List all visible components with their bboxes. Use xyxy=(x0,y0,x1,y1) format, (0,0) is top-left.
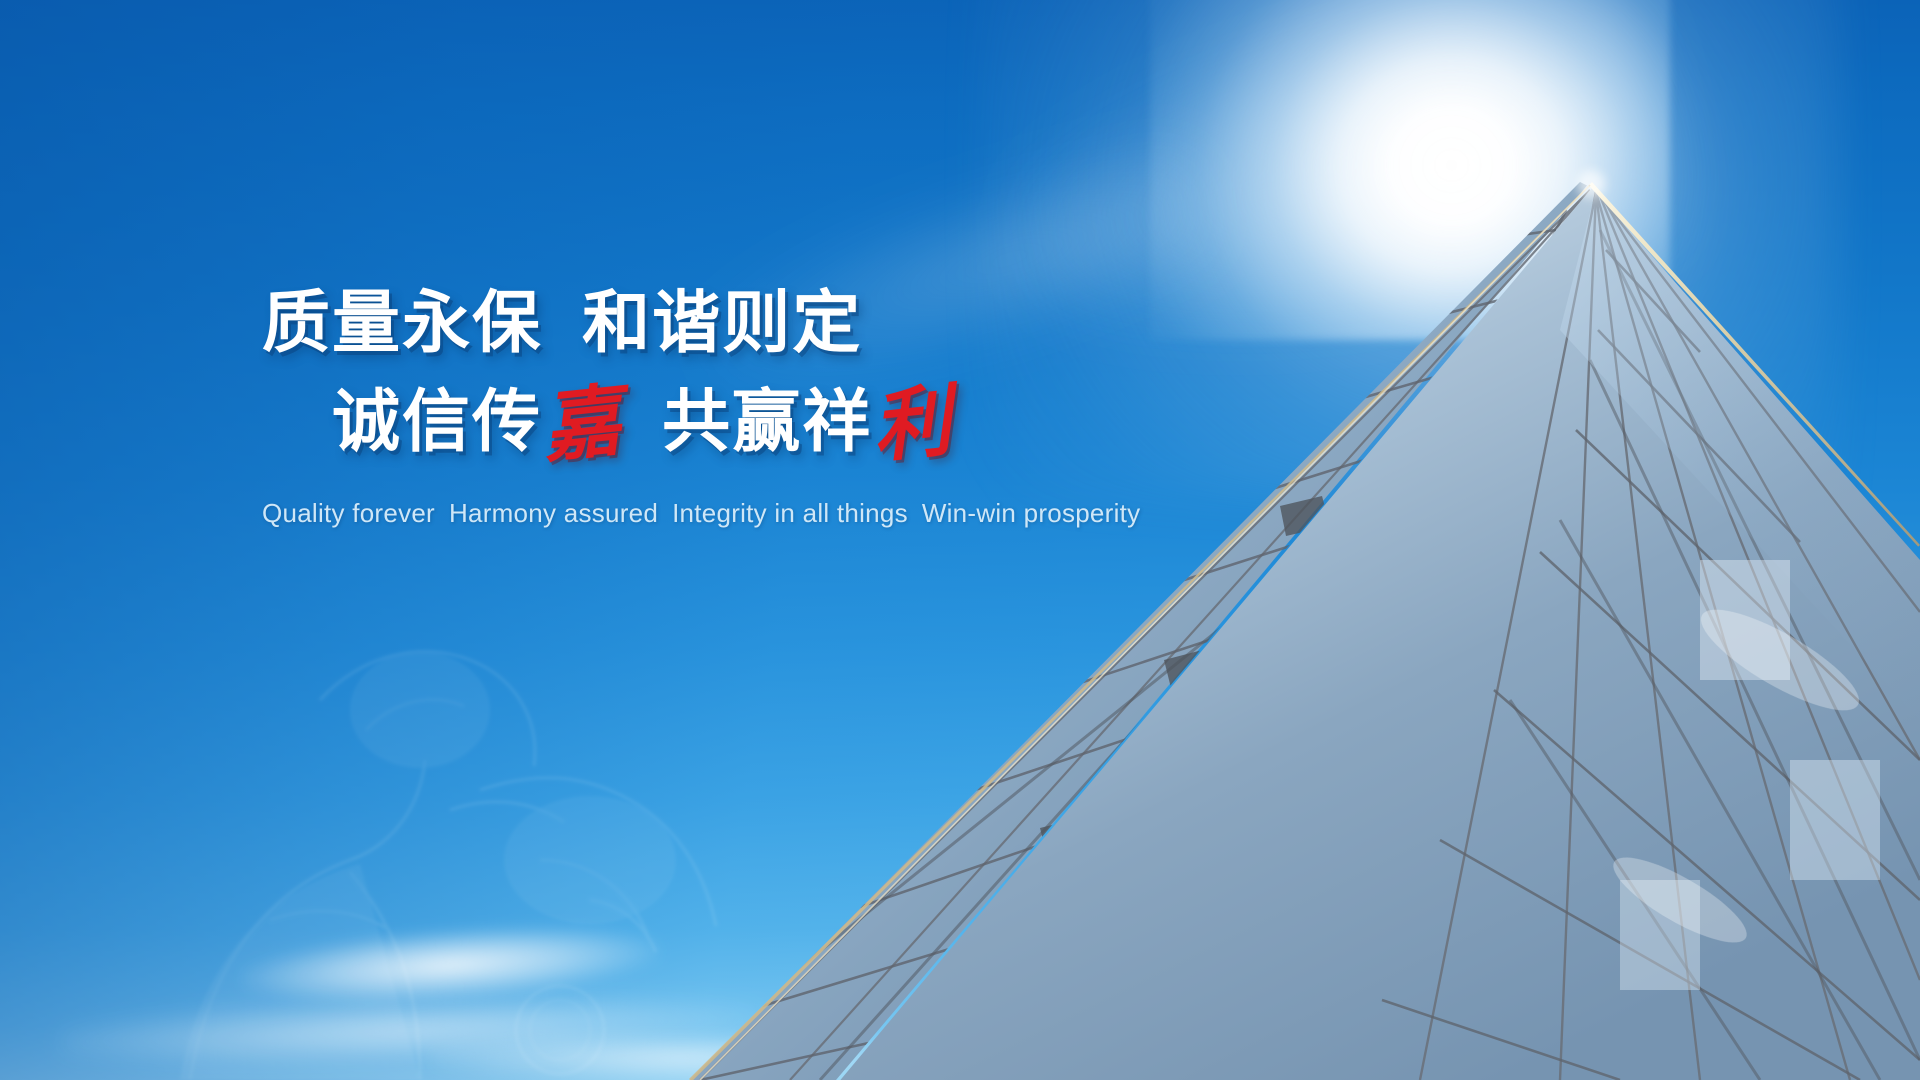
slogan-line-1: 质量永保和谐则定 xyxy=(0,290,1100,358)
tagline-phrase-3: Integrity in all things xyxy=(672,498,908,528)
slogan-line-2: 诚信传嘉共赢祥利 xyxy=(0,380,1100,458)
slogan-line2-part1: 诚信传 xyxy=(332,383,542,462)
glass-pyramid-building xyxy=(0,0,1920,1080)
tagline-phrase-4: Win-win prosperity xyxy=(922,498,1141,528)
tagline: Quality foreverHarmony assuredIntegrity … xyxy=(0,498,1100,529)
slogan-accent-char-li: 利 xyxy=(869,382,957,468)
slogan-line1-part1: 质量永保 xyxy=(262,284,542,363)
tagline-phrase-1: Quality forever xyxy=(262,498,435,528)
slogan-line2-part2: 共赢祥 xyxy=(662,383,872,462)
slogan-block: 质量永保和谐则定 诚信传嘉共赢祥利 Quality foreverHarmony… xyxy=(0,290,1100,529)
slogan-line1-part2: 和谐则定 xyxy=(582,284,862,363)
tagline-phrase-2: Harmony assured xyxy=(449,498,658,528)
corporate-hero-banner: 质量永保和谐则定 诚信传嘉共赢祥利 Quality foreverHarmony… xyxy=(0,0,1920,1080)
slogan-accent-char-jia: 嘉 xyxy=(539,382,627,468)
